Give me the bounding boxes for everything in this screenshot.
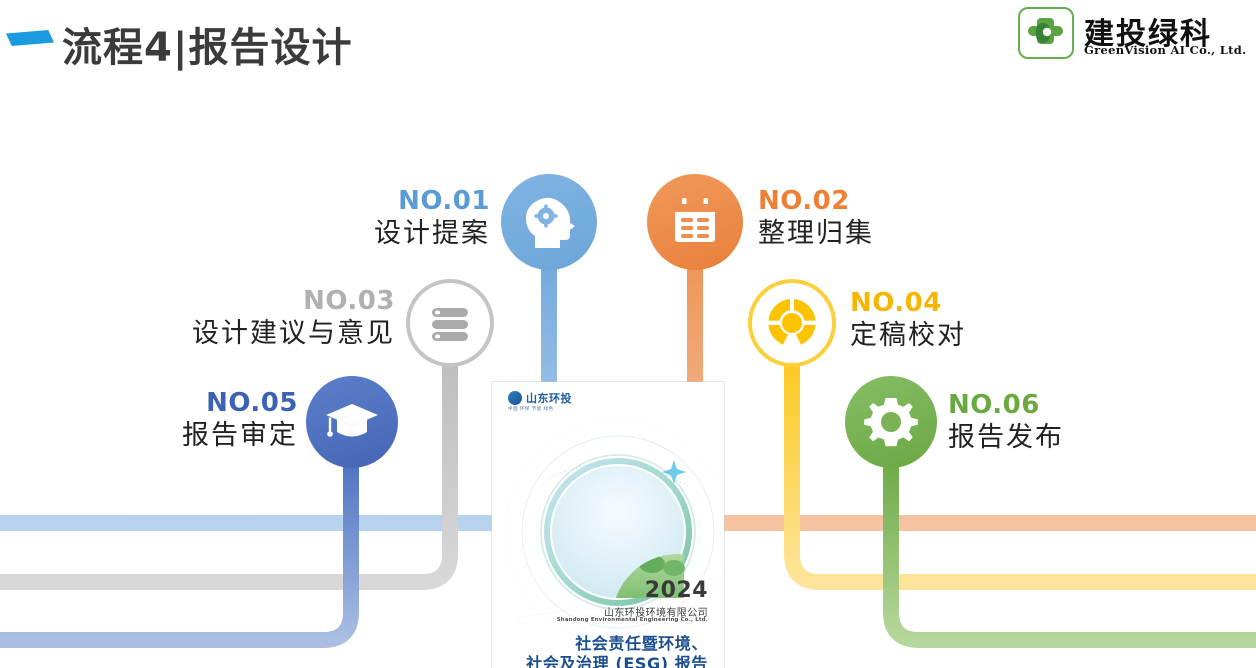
step-number-no01: NO.01 [330, 188, 490, 214]
step-label-no03: NO.03 设计建议与意见 [155, 288, 395, 349]
step-text-no02: 整理归集 [758, 218, 938, 249]
head-gear-icon [501, 174, 597, 270]
step-text-no05: 报告审定 [150, 420, 298, 451]
cover-logo-subtext: 中国 环保 节能 绿色 [508, 406, 554, 412]
step-icon-bubble-no02[interactable] [647, 174, 743, 270]
step-icon-bubble-no04[interactable] [748, 279, 836, 367]
calendar-icon [647, 174, 743, 270]
esg-report-cover: 山东环投 中国 环保 节能 绿色 2024 山东环投环境有限公司 Shandon… [492, 382, 724, 668]
step-text-no03: 设计建议与意见 [155, 318, 395, 349]
step-label-no01: NO.01 设计提案 [330, 188, 490, 249]
step-number-no04: NO.04 [850, 290, 1030, 316]
step-text-no06: 报告发布 [948, 422, 1128, 453]
cover-year: 2024 [645, 578, 708, 603]
step-icon-bubble-no06[interactable] [845, 376, 937, 468]
list-bars-icon [410, 283, 490, 363]
step-number-no05: NO.05 [150, 390, 298, 416]
graduation-cap-icon [306, 376, 398, 468]
cover-title-line2: 社会及治理 (ESG) 报告 [526, 650, 708, 668]
step-label-no05: NO.05 报告审定 [150, 390, 298, 451]
cover-company-logo: 山东环投 中国 环保 节能 绿色 [508, 390, 604, 414]
step-number-no06: NO.06 [948, 392, 1128, 418]
step-icon-bubble-no03[interactable] [406, 279, 494, 367]
cover-logo-text: 山东环投 [526, 390, 572, 406]
donut-target-icon [752, 283, 832, 363]
step-label-no06: NO.06 报告发布 [948, 392, 1128, 453]
slide-canvas: 流程4|报告设计 建投绿科 GreenVision AI Co., Ltd. [0, 0, 1256, 668]
step-icon-bubble-no05[interactable] [306, 376, 398, 468]
step-text-no04: 定稿校对 [850, 320, 1030, 351]
step-icon-bubble-no01[interactable] [501, 174, 597, 270]
step-number-no02: NO.02 [758, 188, 938, 214]
step-text-no01: 设计提案 [330, 218, 490, 249]
step-label-no02: NO.02 整理归集 [758, 188, 938, 249]
cover-logo-mark [508, 391, 522, 405]
gear-icon [845, 376, 937, 468]
step-label-no04: NO.04 定稿校对 [850, 290, 1030, 351]
step-number-no03: NO.03 [155, 288, 395, 314]
cover-company-en: Shandong Environmental Engineering Co., … [557, 617, 708, 623]
